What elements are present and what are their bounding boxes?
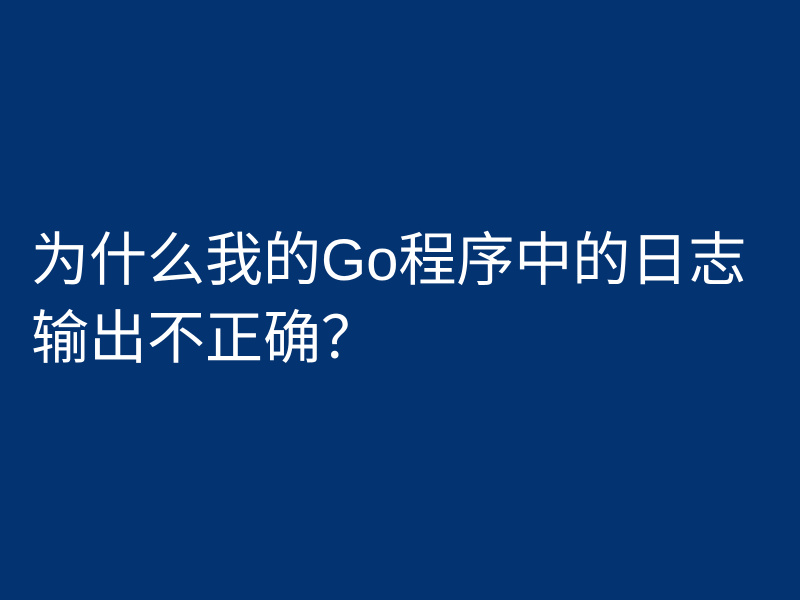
page-title-line-2: 输出不正确？ bbox=[31, 300, 772, 378]
page-title-line-1: 为什么我的Go程序中的日志 bbox=[31, 222, 772, 300]
page-title: 为什么我的Go程序中的日志 输出不正确？ bbox=[31, 222, 772, 378]
title-card: 为什么我的Go程序中的日志 输出不正确？ bbox=[0, 0, 800, 600]
